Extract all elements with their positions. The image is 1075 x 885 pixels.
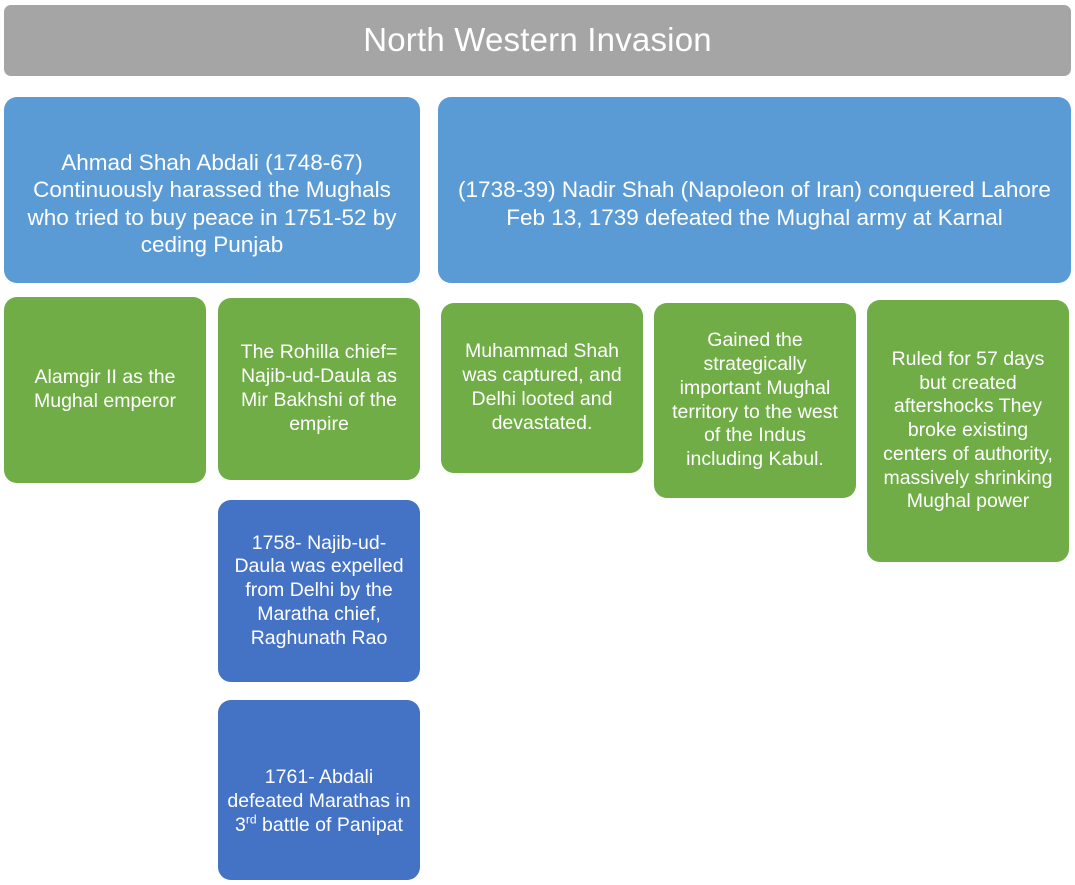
blue-box-1758-najib[interactable]: 1758- Najib-ud-Daula was expelled from D… xyxy=(218,500,420,682)
green-box-indus-territory[interactable]: Gained the strategically important Mugha… xyxy=(654,303,856,498)
header-abdali-line-2: Continuously harassed the Mughals who tr… xyxy=(28,177,397,257)
page-title: North Western Invasion xyxy=(4,20,1071,60)
header-abdali-line-1: Ahmad Shah Abdali (1748-67) xyxy=(61,150,362,175)
green-box-57-days[interactable]: Ruled for 57 days but created aftershock… xyxy=(867,300,1069,562)
header-box-abdali-text: Ahmad Shah Abdali (1748-67) Continuously… xyxy=(14,121,410,258)
diagram-canvas: North Western Invasion Ahmad Shah Abdali… xyxy=(0,0,1075,885)
green-box-alamgir-text: Alamgir II as the Mughal emperor xyxy=(13,366,197,414)
header-box-nadir-shah[interactable]: (1738-39) Nadir Shah (Napoleon of Iran) … xyxy=(438,97,1071,283)
header-box-abdali[interactable]: Ahmad Shah Abdali (1748-67) Continuously… xyxy=(4,97,420,283)
green-box-rohilla-chief[interactable]: The Rohilla chief= Najib-ud-Daula as Mir… xyxy=(218,298,420,480)
blue-box-1758-najib-text: 1758- Najib-ud-Daula was expelled from D… xyxy=(227,532,411,651)
blue-box-1761-panipat-text: 1761- Abdali defeated Marathas in 3rd ba… xyxy=(227,742,411,837)
blue-box-1761-panipat[interactable]: 1761- Abdali defeated Marathas in 3rd ba… xyxy=(218,700,420,880)
green-box-indus-territory-text: Gained the strategically important Mugha… xyxy=(663,329,847,472)
green-box-muhammad-shah[interactable]: Muhammad Shah was captured, and Delhi lo… xyxy=(441,303,643,473)
header-box-nadir-shah-text: (1738-39) Nadir Shah (Napoleon of Iran) … xyxy=(452,149,1057,231)
green-box-57-days-text: Ruled for 57 days but created aftershock… xyxy=(876,348,1060,514)
green-box-alamgir[interactable]: Alamgir II as the Mughal emperor xyxy=(4,297,206,483)
diagram-title-banner: North Western Invasion xyxy=(4,5,1071,76)
header-nadir-line-1: (1738-39) Nadir Shah (Napoleon of Iran) … xyxy=(458,177,1051,202)
panipat-text-after: battle of Panipat xyxy=(257,814,403,836)
green-box-rohilla-chief-text: The Rohilla chief= Najib-ud-Daula as Mir… xyxy=(227,341,411,436)
green-box-muhammad-shah-text: Muhammad Shah was captured, and Delhi lo… xyxy=(450,340,634,435)
header-nadir-line-2: Feb 13, 1739 defeated the Mughal army at… xyxy=(506,205,1003,230)
panipat-ordinal-superscript: rd xyxy=(246,812,257,826)
